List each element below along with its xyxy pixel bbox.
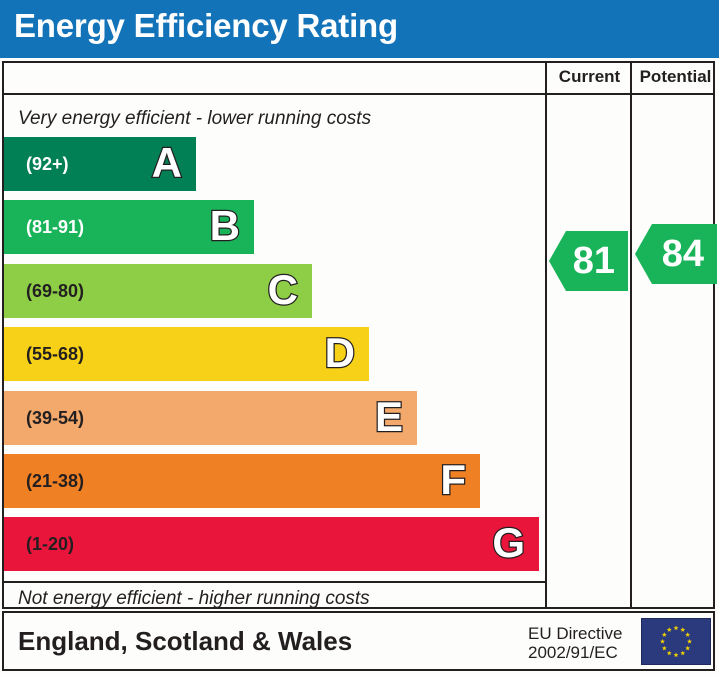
band-row-g: (1-20) G <box>4 517 539 571</box>
band-row-b: (81-91) B <box>4 200 254 254</box>
potential-rating-badge: 84 <box>635 224 717 284</box>
band-row-e: (39-54) E <box>4 391 417 445</box>
band-letter-f: F <box>440 454 466 508</box>
footer-region: England, Scotland & Wales <box>18 626 352 657</box>
eu-flag-icon <box>641 618 711 665</box>
title-bar: Energy Efficiency Rating <box>0 0 719 58</box>
band-row-a: (92+) A <box>4 137 196 191</box>
caption-efficient: Very energy efficient - lower running co… <box>18 108 371 130</box>
band-range-g: (1-20) <box>26 517 74 571</box>
epc-certificate: Energy Efficiency Rating Current Potenti… <box>0 0 719 675</box>
column-header-potential: Potential <box>634 61 717 93</box>
page-title: Energy Efficiency Rating <box>14 7 398 45</box>
caption-divider <box>2 581 545 583</box>
caption-inefficient: Not energy efficient - higher running co… <box>18 588 370 610</box>
footer-bar: England, Scotland & Wales EU Directive 2… <box>2 611 715 671</box>
band-range-a: (92+) <box>26 137 69 191</box>
band-row-f: (21-38) F <box>4 454 480 508</box>
eu-stars-svg <box>642 619 710 664</box>
footer-directive-line1: EU Directive <box>528 624 622 643</box>
band-letter-b: B <box>210 200 240 254</box>
band-range-c: (69-80) <box>26 264 84 318</box>
band-range-b: (81-91) <box>26 200 84 254</box>
band-letter-c: C <box>268 264 298 318</box>
band-range-d: (55-68) <box>26 327 84 381</box>
column-header-row: Current Potential <box>2 61 715 95</box>
band-letter-a: A <box>152 137 182 191</box>
band-letter-e: E <box>375 391 403 445</box>
band-letter-g: G <box>492 517 525 571</box>
column-divider-current <box>545 61 547 609</box>
band-letter-d: D <box>325 327 355 381</box>
band-range-f: (21-38) <box>26 454 84 508</box>
band-row-c: (69-80) C <box>4 264 312 318</box>
band-range-e: (39-54) <box>26 391 84 445</box>
footer-directive-line2: 2002/91/EC <box>528 643 622 662</box>
band-bars: (92+) A (81-91) B (69-80) C (55-68) D (3… <box>4 137 543 581</box>
band-row-d: (55-68) D <box>4 327 369 381</box>
footer-directive: EU Directive 2002/91/EC <box>528 624 622 662</box>
column-header-current: Current <box>547 61 632 93</box>
column-divider-potential <box>630 61 632 609</box>
